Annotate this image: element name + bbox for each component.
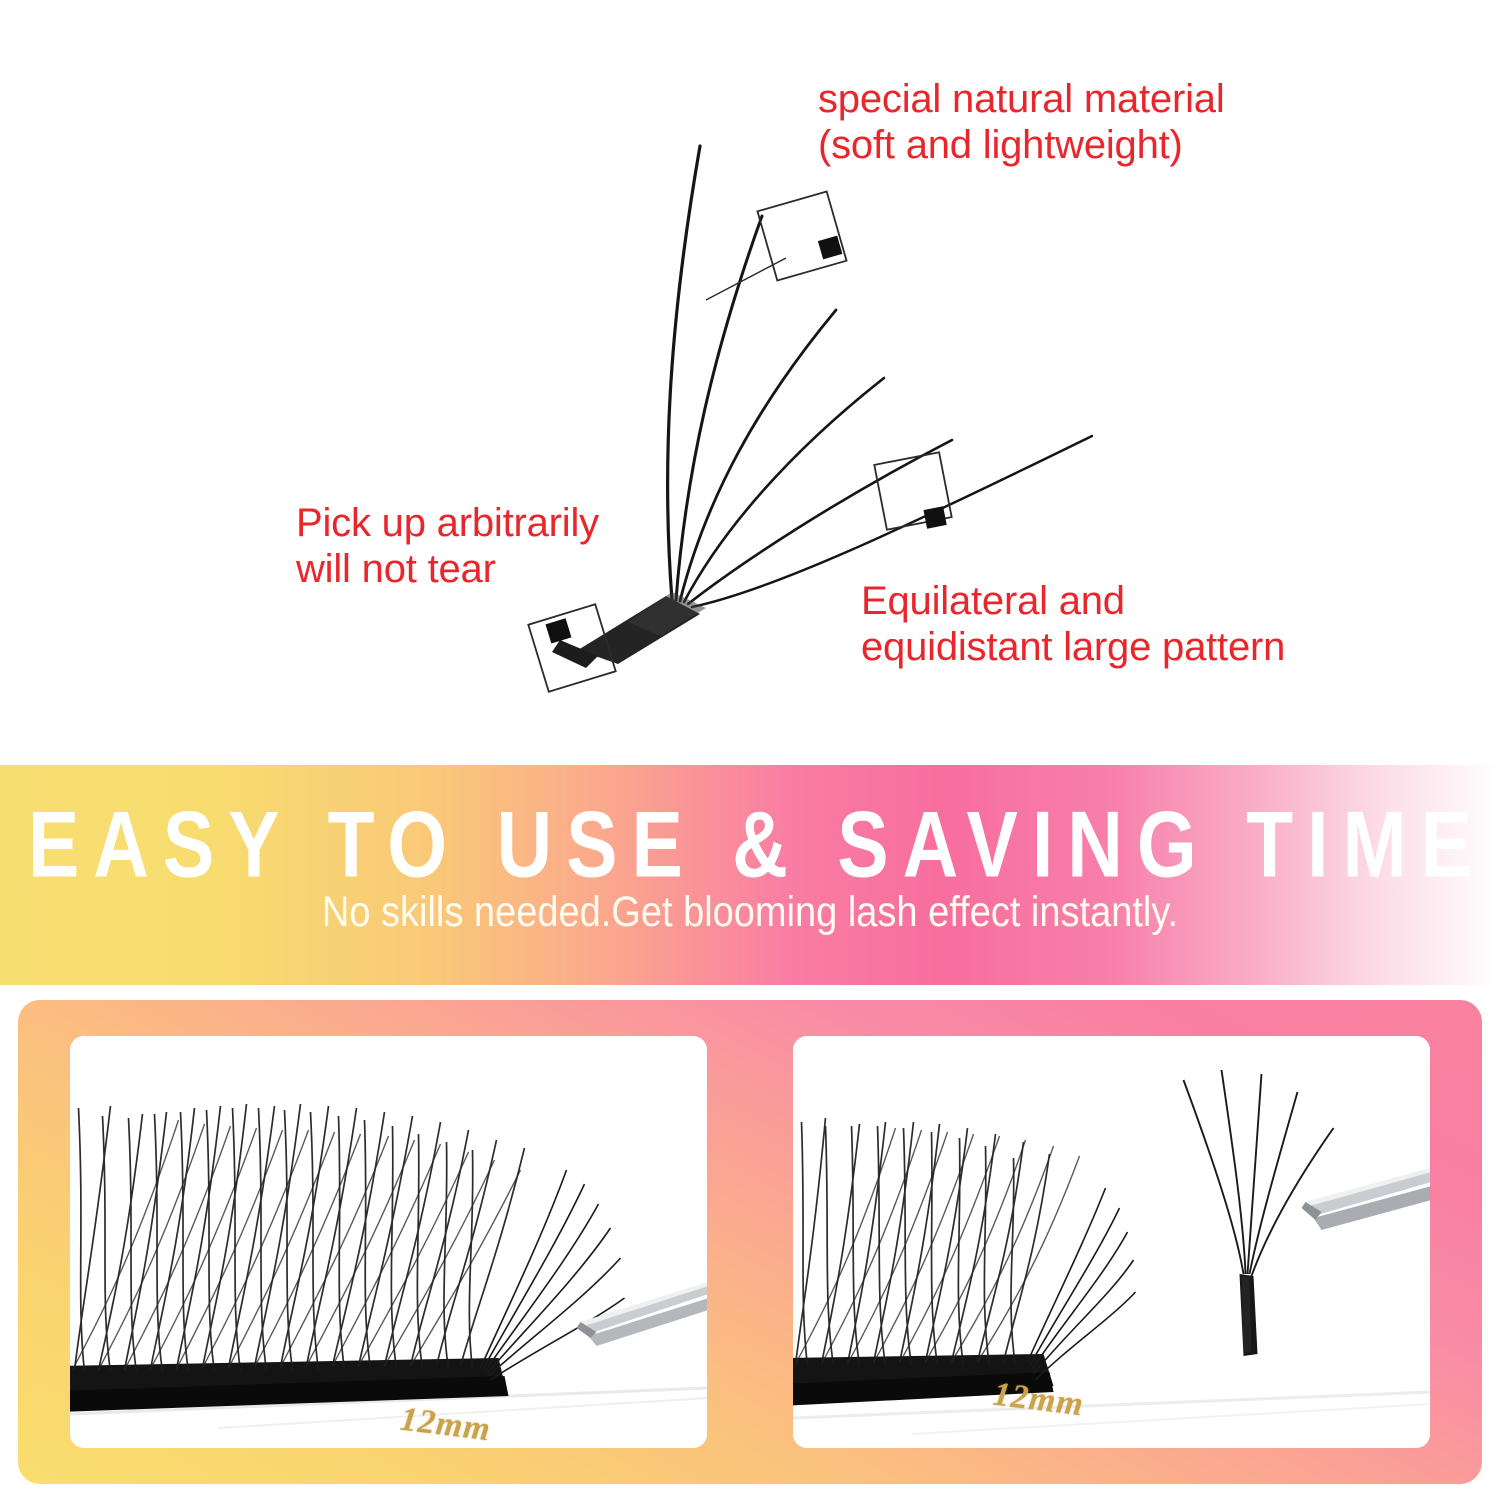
callout-marker-2 xyxy=(874,452,951,529)
lash-strand-group xyxy=(668,146,1092,607)
lash-base-block xyxy=(552,592,706,668)
lash-strand-2 xyxy=(676,216,762,600)
photo-card-lash-fan-pickup[interactable]: 12mm xyxy=(793,1036,1430,1448)
headline-banner: EASY TO USE & SAVING TIME No skills need… xyxy=(0,765,1500,985)
annotation-pick-up-arbitrarily: Pick up arbitrarily will not tear xyxy=(296,500,599,592)
lash-strand-3 xyxy=(680,310,836,601)
lash-strand-4 xyxy=(684,378,884,602)
photo-card-lash-tray-with-tweezers[interactable]: 12mm xyxy=(70,1036,707,1448)
headline-subtitle: No skills needed.Get blooming lash effec… xyxy=(0,889,1500,937)
callout-marker-1 xyxy=(706,191,847,300)
annotation-equilateral-equidistant: Equilateral and equidistant large patter… xyxy=(861,578,1285,670)
annotation-special-natural-material: special natural material (soft and light… xyxy=(818,76,1225,168)
lash-fan-pickup-photo xyxy=(793,1036,1430,1448)
photo-gallery-frame: 12mm xyxy=(18,1000,1482,1484)
headline-title: EASY TO USE & SAVING TIME xyxy=(0,791,1500,900)
lash-tray-photo xyxy=(70,1036,707,1448)
lash-diagram-section: special natural material (soft and light… xyxy=(0,0,1500,765)
